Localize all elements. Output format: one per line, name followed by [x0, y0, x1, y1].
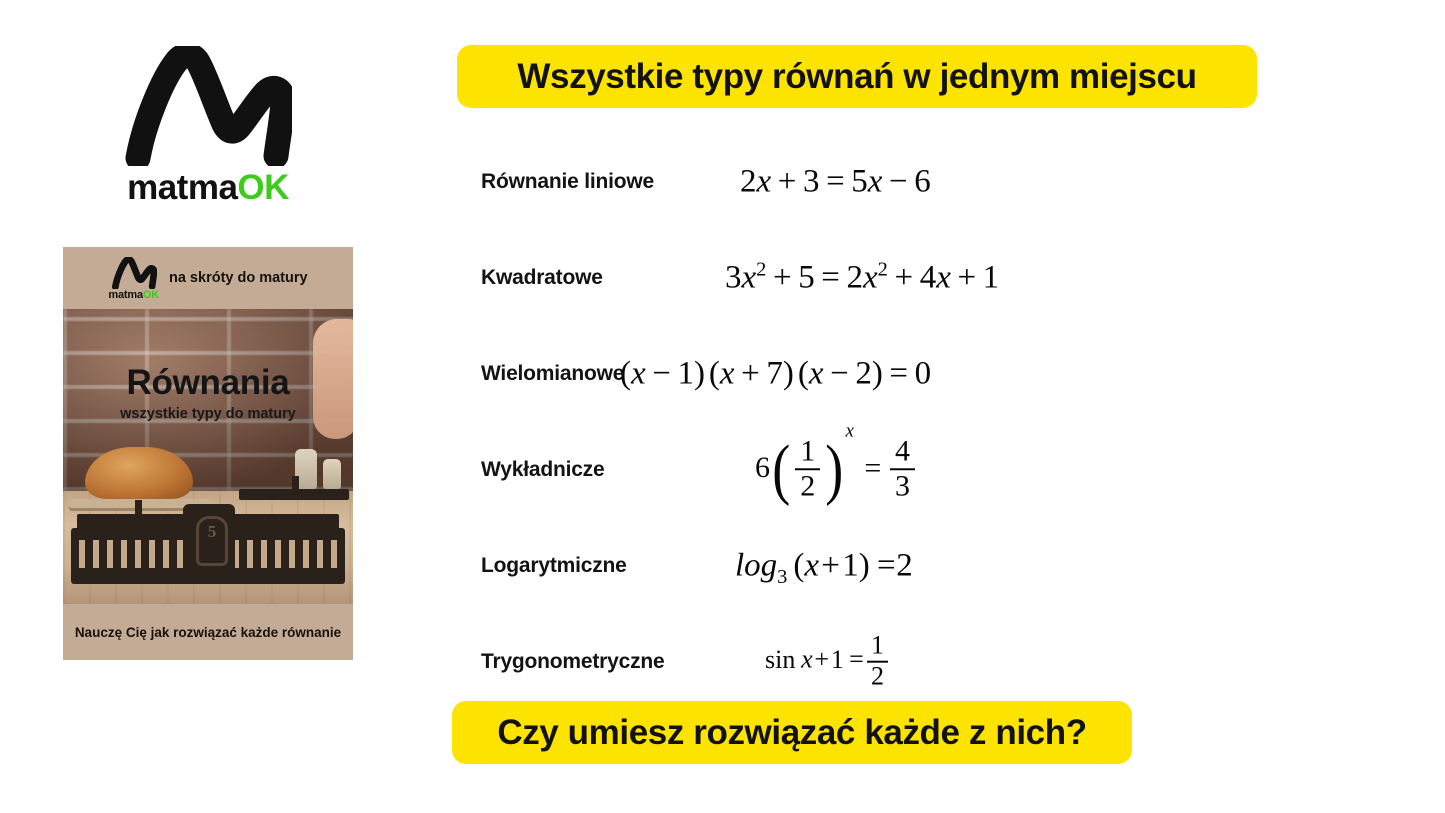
token-exponent: x	[846, 421, 854, 442]
equation-list: Równanie liniowe 2x+3=5x−6 Kwadratowe 3x…	[420, 134, 1445, 710]
book-cover-photo: 5	[63, 309, 353, 604]
headline-banner-bottom-text: Czy umiesz rozwiązać każde z nich?	[497, 713, 1086, 753]
token-exponent: 2	[756, 259, 766, 281]
book-header-logo: matmaOK	[108, 257, 159, 301]
equation-label-trigonometric: Trygonometryczne	[481, 650, 665, 674]
fraction-denominator: 2	[795, 468, 820, 502]
book-header-wordmark-green: OK	[143, 289, 159, 301]
token-number: 7	[766, 356, 783, 392]
token-coefficient: 4	[920, 260, 937, 296]
equation-label-quadratic: Kwadratowe	[481, 266, 603, 290]
token-variable: x	[863, 260, 878, 296]
fraction-numerator: 4	[890, 437, 915, 469]
equation-formula-exponential: 6(12)x=43	[755, 436, 918, 504]
headline-banner-top: Wszystkie typy równań w jednym miejscu	[457, 45, 1257, 108]
token-log-base: 3	[777, 566, 787, 588]
equation-row: Logarytmiczne log3(x+1)=2	[420, 518, 1445, 614]
brand-wordmark-green: OK	[237, 168, 289, 207]
equation-row: Równanie liniowe 2x+3=5x−6	[420, 134, 1445, 230]
left-column: matmaOK matmaOK na skróty do matury	[0, 0, 420, 813]
token-coefficient: 5	[851, 164, 868, 200]
fraction-one-half: 12	[795, 437, 820, 502]
token-paren: )	[872, 356, 883, 392]
fraction-four-thirds: 43	[890, 437, 915, 502]
token-paren-large: (	[772, 435, 790, 503]
fraction-numerator: 1	[795, 437, 820, 469]
fraction-numerator: 1	[867, 633, 888, 660]
book-title-block: Równania wszystkie typy do matury	[63, 365, 353, 422]
token-variable: x	[742, 260, 757, 296]
token-operator: −	[889, 164, 908, 200]
token-paren-large: )	[825, 435, 843, 503]
token-number: 2	[855, 356, 872, 392]
balance-scale-weight-label: 5	[196, 516, 228, 566]
equation-row: Wykładnicze 6(12)x=43	[420, 422, 1445, 518]
equation-formula-polynomial: (x−1)(x+7)(x−2)=0	[620, 358, 931, 391]
book-subtitle: wszystkie typy do matury	[63, 406, 353, 422]
equation-label-logarithmic: Logarytmiczne	[481, 554, 627, 578]
token-equals: =	[864, 451, 881, 484]
token-paren: (	[793, 548, 804, 584]
book-title: Równania	[63, 365, 353, 400]
scale-weight-small	[323, 459, 341, 489]
token-number: 1	[983, 260, 1000, 296]
matmaok-m-logo-icon	[111, 257, 157, 289]
token-operator: +	[773, 260, 792, 296]
token-operator: +	[821, 548, 840, 584]
token-coefficient: 6	[755, 451, 770, 484]
token-number: 5	[798, 260, 815, 296]
equation-formula-logarithmic: log3(x+1)=2	[735, 550, 913, 583]
token-operator: −	[830, 356, 849, 392]
token-sin-function: sin	[765, 645, 795, 674]
brand-logo: matmaOK	[63, 46, 353, 221]
token-operator: +	[741, 356, 760, 392]
token-operator: +	[894, 260, 913, 296]
token-log-function: log	[735, 548, 777, 584]
token-operator: −	[652, 356, 671, 392]
token-equals: =	[877, 548, 896, 584]
token-coefficient: 2	[847, 260, 864, 296]
equation-label-linear: Równanie liniowe	[481, 170, 654, 194]
book-header-band: matmaOK na skróty do matury	[63, 247, 353, 309]
token-variable: x	[720, 356, 735, 392]
token-variable: x	[801, 645, 813, 674]
headline-banner-bottom: Czy umiesz rozwiązać każde z nich?	[452, 701, 1132, 764]
brand-wordmark-black: matma	[127, 168, 237, 207]
token-number: 1	[842, 548, 859, 584]
token-number: 2	[896, 548, 913, 584]
token-number: 1	[831, 645, 844, 674]
book-footer-text: Nauczę Cię jak rozwiązać każde równanie	[75, 625, 341, 640]
book-header-wordmark-black: matma	[108, 289, 142, 301]
token-number: 3	[803, 164, 820, 200]
token-coefficient: 2	[740, 164, 757, 200]
fraction-denominator: 3	[890, 468, 915, 502]
book-footer-band: Nauczę Cię jak rozwiązać każde równanie	[63, 604, 353, 660]
token-operator: +	[957, 260, 976, 296]
equation-row: Kwadratowe 3x2+5=2x2+4x+1	[420, 230, 1445, 326]
token-paren: (	[709, 356, 720, 392]
token-paren: )	[694, 356, 705, 392]
equation-label-exponential: Wykładnicze	[481, 458, 604, 482]
headline-banner-top-text: Wszystkie typy równań w jednym miejscu	[517, 57, 1196, 97]
token-exponent: 2	[878, 259, 888, 281]
equation-formula-trigonometric: sinx+1=12	[765, 634, 891, 691]
token-equals: =	[826, 164, 845, 200]
token-coefficient: 3	[725, 260, 742, 296]
token-paren: )	[859, 548, 870, 584]
token-paren: )	[783, 356, 794, 392]
equation-row: Trygonometryczne sinx+1=12	[420, 614, 1445, 710]
token-operator: +	[778, 164, 797, 200]
brand-wordmark: matmaOK	[127, 170, 289, 205]
token-variable: x	[757, 164, 772, 200]
book-header-wordmark: matmaOK	[108, 290, 159, 301]
fraction-one-half: 12	[867, 633, 888, 690]
book-cover-image: matmaOK na skróty do matury 5 Ró	[63, 247, 353, 660]
token-paren: (	[798, 356, 809, 392]
token-variable: x	[868, 164, 883, 200]
token-variable: x	[804, 548, 819, 584]
fraction-denominator: 2	[867, 660, 888, 689]
bread-loaf-photo-element	[85, 447, 193, 499]
token-operator: +	[814, 645, 829, 674]
token-variable: x	[631, 356, 646, 392]
token-variable: x	[809, 356, 824, 392]
token-variable: x	[936, 260, 951, 296]
token-equals: =	[889, 356, 908, 392]
matmaok-m-logo-icon	[124, 46, 292, 166]
token-number: 6	[914, 164, 931, 200]
token-number: 1	[677, 356, 694, 392]
equation-row: Wielomianowe (x−1)(x+7)(x−2)=0	[420, 326, 1445, 422]
token-equals: =	[821, 260, 840, 296]
token-equals: =	[849, 645, 864, 674]
token-paren: (	[620, 356, 631, 392]
equation-label-polynomial: Wielomianowe	[481, 362, 624, 386]
balance-scale-right-post	[292, 476, 299, 492]
token-number: 0	[915, 356, 932, 392]
book-header-tagline: na skróty do matury	[169, 270, 308, 286]
right-column: Wszystkie typy równań w jednym miejscu R…	[420, 0, 1445, 813]
equation-formula-linear: 2x+3=5x−6	[740, 166, 931, 199]
equation-formula-quadratic: 3x2+5=2x2+4x+1	[725, 262, 999, 295]
